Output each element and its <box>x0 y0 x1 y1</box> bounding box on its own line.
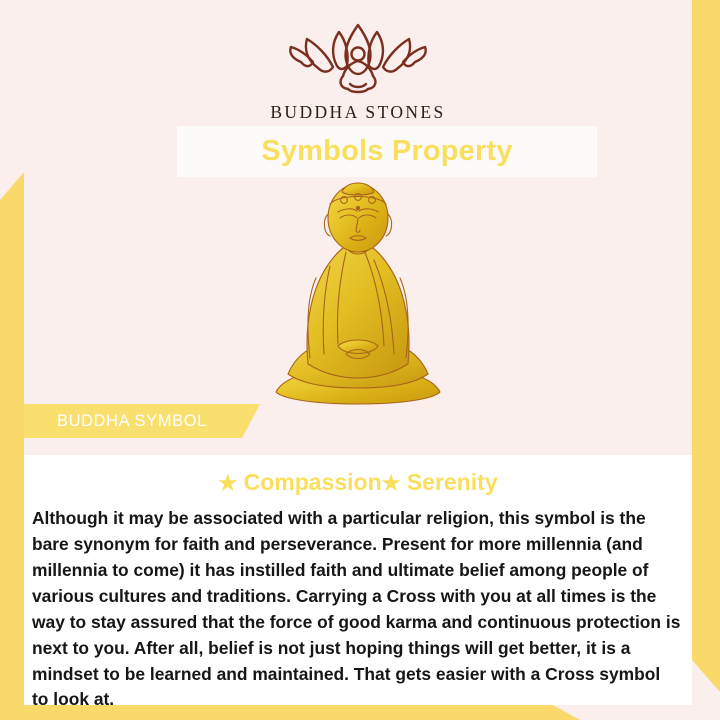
star-icon-right: ★ <box>382 472 401 495</box>
article-panel: ★ Compassion★ Serenity Although it may b… <box>24 455 692 705</box>
left-accent-band <box>0 172 24 720</box>
star-icon-left: ★ <box>218 472 237 495</box>
article-body-text: Although it may be associated with a par… <box>24 496 692 713</box>
right-accent-band <box>692 0 720 692</box>
hero-stage: BUDDHA STONES Symbols Property <box>24 0 692 455</box>
seated-buddha-illustration <box>246 178 470 410</box>
article-subtitle: ★ Compassion★ Serenity <box>24 455 692 496</box>
brand-name: BUDDHA STONES <box>24 102 692 123</box>
keyword-serenity: Serenity <box>407 469 498 495</box>
headline-plate: Symbols Property <box>177 126 597 177</box>
buddha-symbol-ribbon: BUDDHA SYMBOL <box>24 404 260 438</box>
poster-canvas: BUDDHA STONES Symbols Property <box>0 0 720 720</box>
page-title: Symbols Property <box>261 135 512 168</box>
lotus-meditation-icon <box>284 22 432 96</box>
keyword-compassion: Compassion <box>244 469 382 495</box>
ribbon-label: BUDDHA SYMBOL <box>24 412 207 431</box>
brand-block: BUDDHA STONES <box>24 22 692 123</box>
